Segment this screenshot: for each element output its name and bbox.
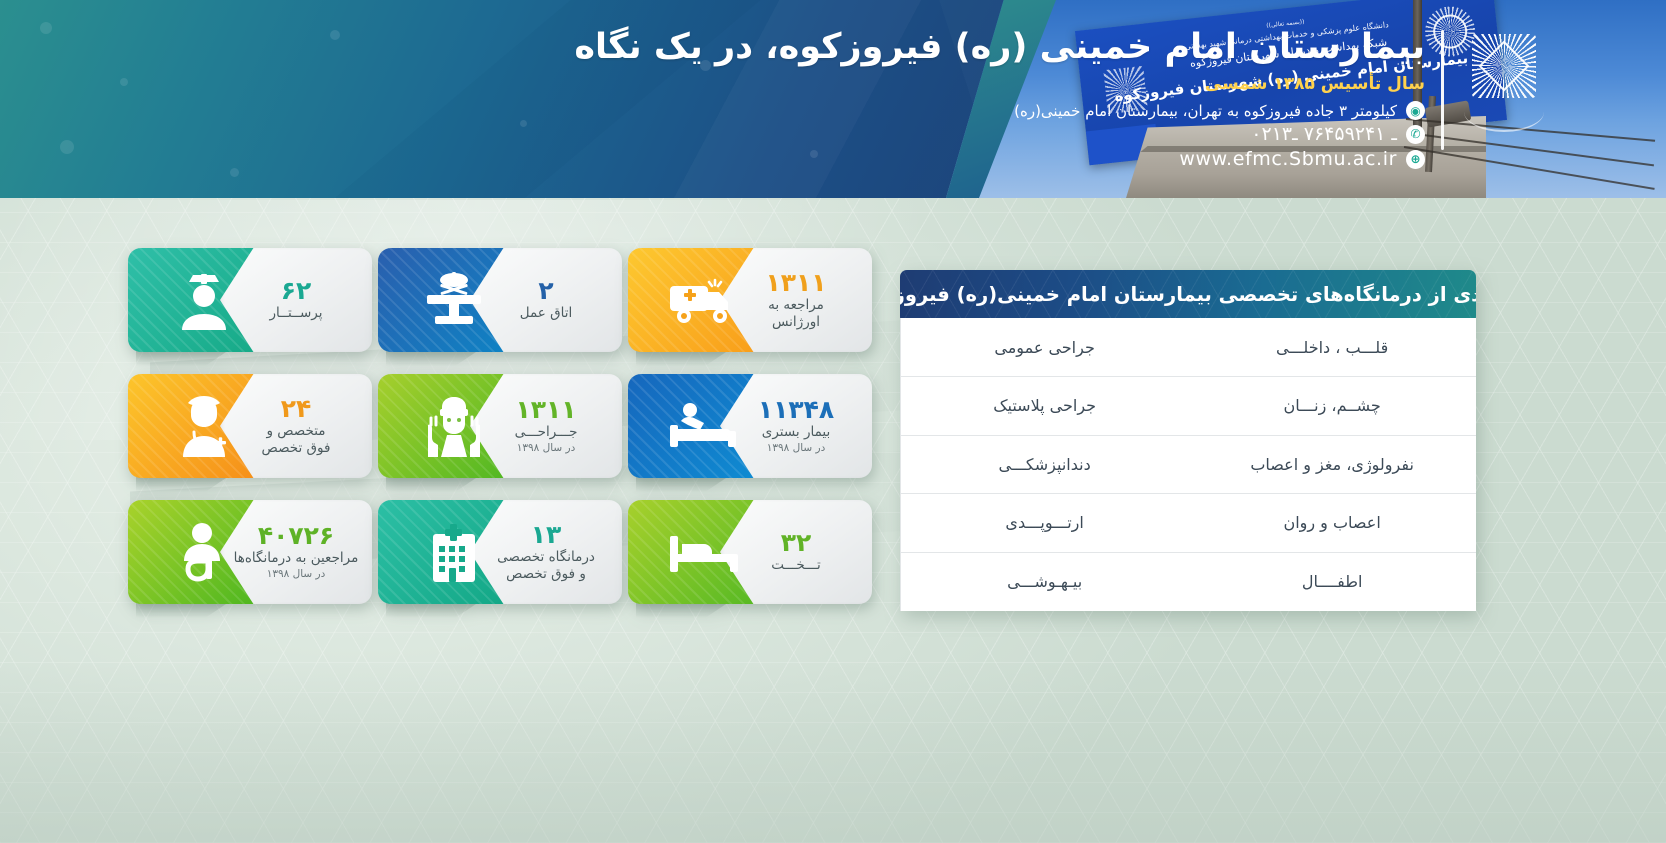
globe-icon: ⊕ [1406, 150, 1425, 169]
table-cell-right: اطفــــال [1188, 552, 1476, 611]
stat-card-label: جـــراحـــی [509, 424, 584, 441]
page-header: ((بسمه تعالی)) دانشگاه علوم پزشکی و خدما… [0, 0, 1666, 198]
stat-card-label: پرســتــار [263, 305, 328, 322]
table-cell-left: بیـهـوشـــی [901, 552, 1189, 611]
contact-row-phone[interactable]: ✆ ۰۲۱ـ ۷۶۴۵۹۲۴۱ ـ۳ [574, 123, 1425, 145]
table-cell-left: ارتـــوپـــدی [901, 494, 1189, 553]
table-cell-right: نفرولوژی، مغز و اعصاب [1188, 435, 1476, 494]
phone-icon: ✆ [1406, 125, 1425, 144]
stat-card-number: ۱۳۱۱ [515, 397, 576, 423]
table-row: اطفــــالبیـهـوشـــی [901, 552, 1477, 611]
stat-card-number: ۱۳۱۱ [765, 270, 826, 296]
stat-card-label: اتاق عمل [514, 305, 578, 322]
stat-cards-grid: ۶۲پرســتــار ۲اتاق عمل ۱۳۱۱مراجعه به اور… [128, 248, 872, 604]
stat-card: ۳۲تـــخـــت [628, 500, 872, 604]
stat-card-sublabel: در سال ۱۳۹۸ [517, 442, 576, 455]
stat-card-label: مراجعین به درمانگاه‌ها [228, 550, 365, 567]
address-text: کیلومتر ۳ جاده فیروزکوه به تهران، بیمارس… [1014, 102, 1397, 120]
stat-card: ۱۳۱۱جـــراحـــیدر سال ۱۳۹۸ [378, 374, 622, 478]
stat-card-label: تـــخـــت [765, 557, 826, 574]
table-cell-left: جراحی پلاستیک [901, 377, 1189, 436]
table-row: قلـــب ، داخلـــیجراحی عمومی [901, 318, 1477, 377]
stat-card: ۴۰۷۲۶مراجعین به درمانگاه‌هادر سال ۱۳۹۸ [128, 500, 372, 604]
table-cell-right: چشــم، زنـــان [1188, 377, 1476, 436]
website-text: www.efmc.Sbmu.ac.ir [1179, 148, 1397, 170]
stat-card-label: متخصص و فوق تخصص [256, 423, 337, 457]
table-header: تعدادی از درمانگاه‌های تخصصی بیمارستان ا… [900, 270, 1476, 318]
university-logo-icon [1460, 28, 1548, 140]
stat-card: ۲اتاق عمل [378, 248, 622, 352]
stat-card: ۱۳درمانگاه تخصصی و فوق تخصص [378, 500, 622, 604]
location-pin-icon: ◉ [1406, 101, 1425, 120]
header-content: بیمارستان امام خمینی (ره) فیروزکوه، در ی… [574, 26, 1548, 173]
stat-card-sublabel: در سال ۱۳۹۸ [267, 568, 326, 581]
stat-card-number: ۳۲ [781, 530, 812, 556]
stat-card-number: ۱۳ [531, 522, 562, 548]
founding-year: سال تأسیس ۱۳۸۵ شمسی [574, 74, 1425, 94]
contact-row-address: ◉ کیلومتر ۳ جاده فیروزکوه به تهران، بیما… [574, 101, 1425, 120]
specialty-clinics-panel: تعدادی از درمانگاه‌های تخصصی بیمارستان ا… [900, 270, 1476, 611]
stat-card: ۱۱۳۴۸بیمار بستریدر سال ۱۳۹۸ [628, 374, 872, 478]
table-cell-right: قلـــب ، داخلـــی [1188, 318, 1476, 377]
stat-card-number: ۴۰۷۲۶ [258, 523, 334, 549]
contact-info: ◉ کیلومتر ۳ جاده فیروزکوه به تهران، بیما… [574, 101, 1425, 170]
table-cell-right: اعصاب و روان [1188, 494, 1476, 553]
table-cell-left: دندانپزشکـــی [901, 435, 1189, 494]
table-row: چشــم، زنـــانجراحی پلاستیک [901, 377, 1477, 436]
table-row: اعصاب و روانارتـــوپـــدی [901, 494, 1477, 553]
table-row: نفرولوژی، مغز و اعصابدندانپزشکـــی [901, 435, 1477, 494]
stat-card-number: ۲۴ [281, 396, 312, 422]
header-divider [1441, 30, 1444, 150]
table-title: تعدادی از درمانگاه‌های تخصصی بیمارستان ا… [900, 283, 1476, 306]
table-cell-left: جراحی عمومی [901, 318, 1189, 377]
page-title: بیمارستان امام خمینی (ره) فیروزکوه، در ی… [574, 26, 1425, 68]
infographic-page: ((بسمه تعالی)) دانشگاه علوم پزشکی و خدما… [0, 0, 1666, 843]
stat-card-label: مراجعه به اورژانس [762, 297, 830, 331]
stat-card-number: ۲ [538, 278, 553, 304]
stat-card-number: ۶۲ [281, 278, 312, 304]
contact-row-website[interactable]: ⊕ www.efmc.Sbmu.ac.ir [574, 148, 1425, 170]
stat-card-label: بیمار بستری [756, 424, 836, 441]
stat-card: ۶۲پرســتــار [128, 248, 372, 352]
stat-card-label: درمانگاه تخصصی و فوق تخصص [491, 549, 601, 583]
stat-card-number: ۱۱۳۴۸ [758, 397, 834, 423]
specialty-clinics-table: قلـــب ، داخلـــیجراحی عمومیچشــم، زنـــ… [900, 318, 1476, 611]
stat-card-sublabel: در سال ۱۳۹۸ [767, 442, 826, 455]
stat-card: ۲۴متخصص و فوق تخصص [128, 374, 372, 478]
stat-card: ۱۳۱۱مراجعه به اورژانس [628, 248, 872, 352]
phone-text: ۰۲۱ـ ۷۶۴۵۹۲۴۱ ـ۳ [1251, 123, 1397, 145]
